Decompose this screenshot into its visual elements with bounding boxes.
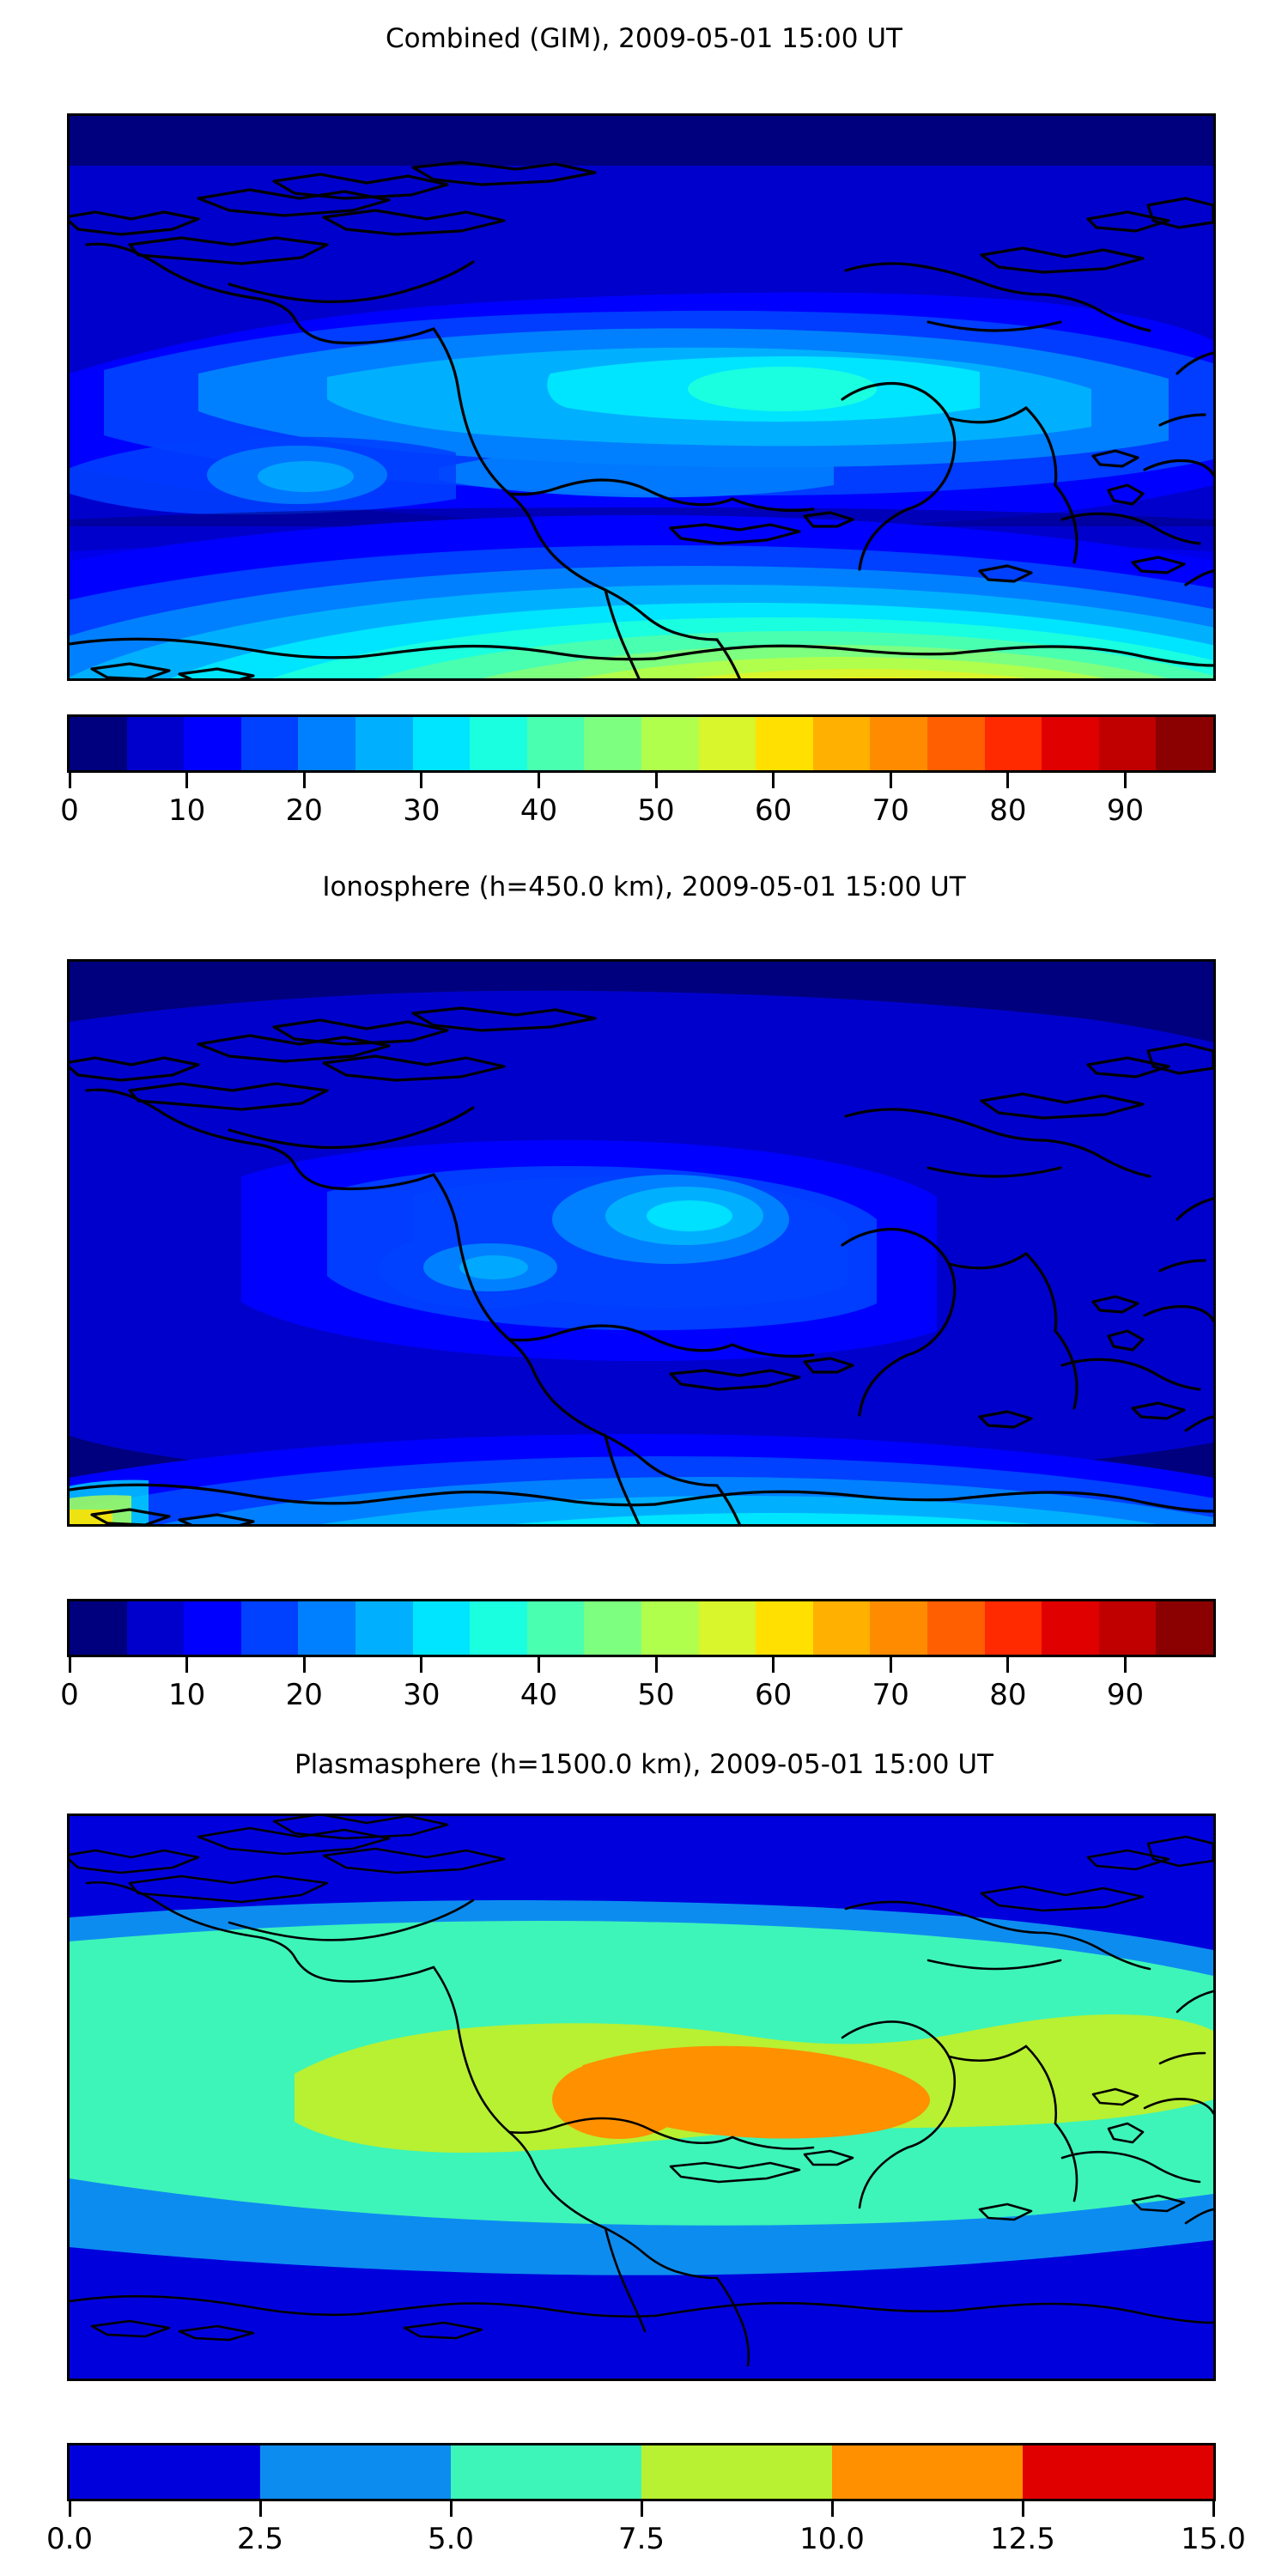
colorbar-band — [184, 1601, 241, 1655]
panel-title-ionosphere: Ionosphere (h=450.0 km), 2009-05-01 15:0… — [0, 874, 1288, 901]
colorbar-ticks-combined — [67, 773, 1216, 792]
colorbar-band — [584, 1601, 641, 1655]
colorbar-tick-label: 10.0 — [799, 2522, 865, 2556]
colorbar-plasmasphere: 0.02.55.07.510.012.515.0 — [67, 2443, 1211, 2560]
colorbar-gradient-ionosphere — [67, 1599, 1216, 1657]
colorbar-band — [641, 2445, 832, 2499]
colorbar-band — [1099, 717, 1157, 770]
colorbar-tick — [450, 2501, 453, 2517]
colorbar-band — [699, 717, 756, 770]
colorbar-ticks-ionosphere — [67, 1657, 1216, 1676]
colorbar-band — [127, 717, 185, 770]
colorbar-tick — [1006, 1657, 1009, 1673]
map-ionosphere — [67, 959, 1216, 1527]
colorbar-tick-label: 70 — [872, 793, 909, 828]
colorbar-band — [184, 717, 241, 770]
colorbar-band — [1156, 1601, 1213, 1655]
colorbar-tick-label: 0 — [60, 793, 79, 828]
colorbar-tick-label: 0 — [60, 1678, 79, 1712]
colorbar-tick — [538, 773, 540, 788]
colorbar-band — [813, 717, 871, 770]
colorbar-combined: 0102030405060708090 — [67, 714, 1211, 831]
colorbar-band — [1156, 717, 1213, 770]
colorbar-tick-label: 10 — [168, 1678, 205, 1712]
colorbar-tick-label: 40 — [520, 1678, 557, 1712]
colorbar-tick — [69, 1657, 71, 1673]
colorbar-band — [641, 1601, 699, 1655]
map-svg-ionosphere — [70, 962, 1213, 1524]
colorbar-band — [70, 2445, 260, 2499]
panel-title-combined: Combined (GIM), 2009-05-01 15:00 UT — [0, 26, 1288, 52]
colorbar-band — [470, 1601, 527, 1655]
colorbar-tick — [890, 1657, 892, 1673]
colorbar-tick — [1006, 773, 1009, 788]
colorbar-tick-label: 60 — [755, 793, 792, 828]
panel-plasmasphere: Plasmasphere (h=1500.0 km), 2009-05-01 1… — [0, 1752, 1288, 1778]
colorbar-tick — [185, 773, 188, 788]
colorbar-band — [70, 717, 127, 770]
colorbar-tick-label: 80 — [989, 1678, 1026, 1712]
colorbar-band — [260, 2445, 451, 2499]
colorbar-tick-label: 7.5 — [618, 2522, 665, 2556]
colorbar-tick-label: 80 — [989, 793, 1026, 828]
colorbar-band — [641, 717, 699, 770]
colorbar-tick — [772, 773, 775, 788]
colorbar-tick-label: 12.5 — [990, 2522, 1055, 2556]
colorbar-gradient-plasmasphere — [67, 2443, 1216, 2501]
colorbar-labels-plasmasphere: 0.02.55.07.510.012.515.0 — [67, 2520, 1216, 2560]
colorbar-band — [813, 1601, 871, 1655]
colorbar-tick-label: 50 — [637, 793, 674, 828]
colorbar-tick-label: 20 — [286, 793, 323, 828]
colorbar-band — [832, 2445, 1023, 2499]
colorbar-band — [985, 1601, 1042, 1655]
colorbar-tick — [69, 2501, 71, 2517]
colorbar-tick — [1022, 2501, 1024, 2517]
colorbar-tick-label: 10 — [168, 793, 205, 828]
colorbar-tick-label: 0.0 — [46, 2522, 93, 2556]
colorbar-band — [127, 1601, 185, 1655]
colorbar-tick — [1124, 773, 1127, 788]
colorbar-band — [1023, 2445, 1213, 2499]
colorbar-band — [298, 1601, 355, 1655]
colorbar-tick-label: 50 — [637, 1678, 674, 1712]
colorbar-tick-label: 40 — [520, 793, 557, 828]
colorbar-tick — [655, 1657, 658, 1673]
colorbar-tick — [1212, 2501, 1215, 2517]
colorbar-gradient-combined — [67, 714, 1216, 773]
colorbar-tick-label: 90 — [1107, 793, 1144, 828]
colorbar-tick — [420, 1657, 422, 1673]
colorbar-band — [756, 717, 813, 770]
colorbar-band — [527, 1601, 585, 1655]
colorbar-band — [413, 717, 471, 770]
panel-title-plasmasphere: Plasmasphere (h=1500.0 km), 2009-05-01 1… — [0, 1752, 1288, 1778]
colorbar-band — [413, 1601, 471, 1655]
figure-root: Combined (GIM), 2009-05-01 15:00 UT — [0, 0, 1288, 2576]
colorbar-band — [527, 717, 585, 770]
colorbar-labels-ionosphere: 0102030405060708090 — [67, 1676, 1216, 1716]
colorbar-band — [241, 717, 299, 770]
colorbar-tick — [890, 773, 892, 788]
colorbar-tick — [303, 773, 306, 788]
colorbar-tick — [772, 1657, 775, 1673]
map-plasmasphere — [67, 1814, 1216, 2381]
colorbar-tick — [655, 773, 658, 788]
map-svg-plasmasphere — [70, 1816, 1213, 2379]
colorbar-tick-label: 70 — [872, 1678, 909, 1712]
colorbar-tick-label: 15.0 — [1181, 2522, 1246, 2556]
colorbar-tick — [185, 1657, 188, 1673]
colorbar-band — [927, 717, 985, 770]
colorbar-band — [1042, 717, 1099, 770]
colorbar-tick-label: 2.5 — [237, 2522, 283, 2556]
colorbar-tick-label: 90 — [1107, 1678, 1144, 1712]
colorbar-band — [1099, 1601, 1157, 1655]
colorbar-tick — [641, 2501, 643, 2517]
colorbar-band — [1042, 1601, 1099, 1655]
colorbar-band — [699, 1601, 756, 1655]
colorbar-tick — [538, 1657, 540, 1673]
colorbar-tick — [420, 773, 422, 788]
colorbar-band — [870, 1601, 927, 1655]
colorbar-labels-combined: 0102030405060708090 — [67, 792, 1216, 831]
colorbar-tick — [303, 1657, 306, 1673]
map-combined-gim — [67, 113, 1216, 681]
colorbar-band — [584, 717, 641, 770]
colorbar-band — [756, 1601, 813, 1655]
colorbar-band — [241, 1601, 299, 1655]
colorbar-tick-label: 60 — [755, 1678, 792, 1712]
colorbar-band — [355, 1601, 413, 1655]
colorbar-ionosphere: 0102030405060708090 — [67, 1599, 1211, 1716]
colorbar-band — [985, 717, 1042, 770]
colorbar-tick-label: 20 — [286, 1678, 323, 1712]
colorbar-band — [355, 717, 413, 770]
colorbar-band — [870, 717, 927, 770]
colorbar-tick — [1124, 1657, 1127, 1673]
panel-combined-gim: Combined (GIM), 2009-05-01 15:00 UT — [0, 26, 1288, 52]
map-svg-combined — [70, 116, 1213, 678]
colorbar-tick-label: 30 — [403, 1678, 440, 1712]
panel-ionosphere: Ionosphere (h=450.0 km), 2009-05-01 15:0… — [0, 874, 1288, 901]
colorbar-tick — [69, 773, 71, 788]
colorbar-band — [70, 1601, 127, 1655]
colorbar-tick — [831, 2501, 834, 2517]
colorbar-band — [927, 1601, 985, 1655]
colorbar-band — [298, 717, 355, 770]
colorbar-tick-label: 30 — [403, 793, 440, 828]
colorbar-band — [451, 2445, 641, 2499]
colorbar-tick-label: 5.0 — [428, 2522, 474, 2556]
colorbar-band — [470, 717, 527, 770]
colorbar-tick — [259, 2501, 262, 2517]
colorbar-ticks-plasmasphere — [67, 2501, 1216, 2520]
